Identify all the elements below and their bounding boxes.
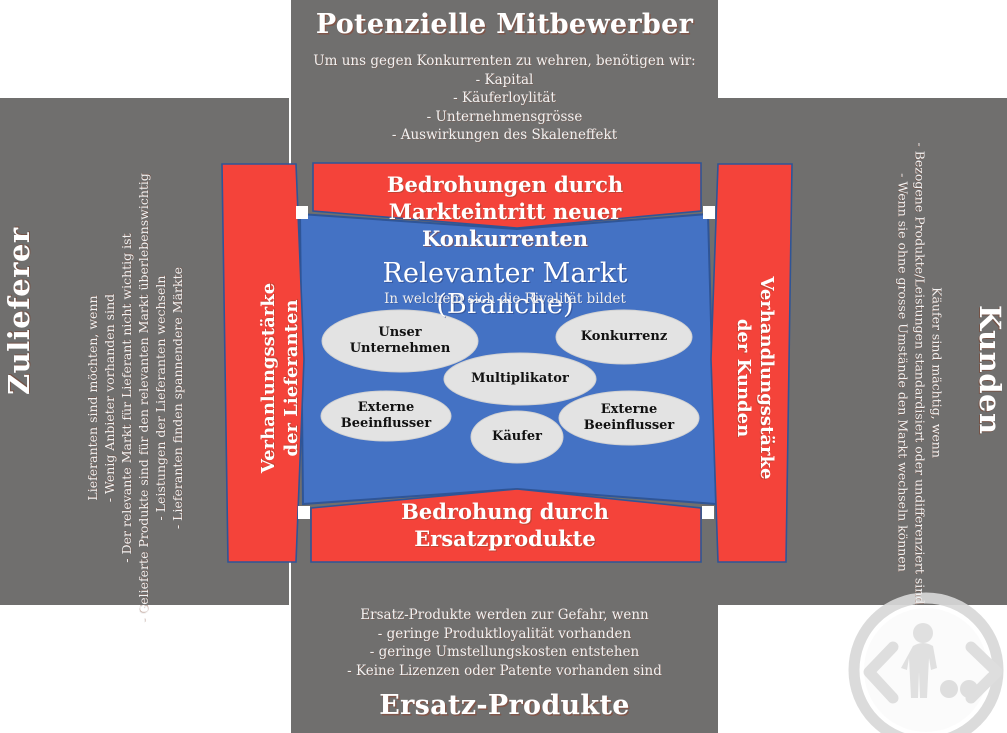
banner-substitutes-label: Bedrohung durch Ersatzprodukte [310, 498, 700, 552]
list-customers: Käufer sind mächtig, wenn- Bezogene Prod… [895, 143, 946, 603]
ellipse-label-unser-unternehmen-line1: Unser [322, 325, 478, 341]
heading-potential-entrants: Potenzielle Mitbewerber [291, 9, 718, 40]
heading-substitutes: Ersatz-Produkte [291, 690, 718, 721]
banner-buyer-power-label: Verhandlungsstärke der Kunden [732, 253, 778, 503]
banner-supplier-power-label: Verhanlungsstärke der Lieferanten [257, 253, 303, 503]
suppliers-item-line-1: - Wenig Anbieter vorhanden sind [101, 168, 118, 628]
diagram-canvas: Potenzielle Mitbewerber Um uns gegen Kon… [0, 0, 1007, 733]
ellipse-label-externe-links: ExterneBeeinflusser [321, 400, 451, 432]
ellipse-label-konkurrenz: Konkurrenz [556, 329, 692, 345]
ellipse-label-externe-links-line1: Externe [321, 400, 451, 416]
buyer-power-line2: der Kunden [732, 253, 755, 503]
suppliers-item-line-2: - Der relevante Markt für Lieferant nich… [118, 168, 135, 628]
entrants-item-line-1: - Kapital [291, 71, 718, 90]
ellipse-label-unser-unternehmen: UnserUnternehmen [322, 325, 478, 357]
entrants-item-line-4: - Auswirkungen des Skaleneffekt [291, 126, 718, 145]
banner-new-entrants-label: Bedrohungen durch Markteintritt neuer Ko… [310, 171, 700, 252]
ellipse-label-multiplikator-line1: Multiplikator [444, 371, 596, 387]
suppliers-item-line-0: Lieferanten sind möchten, wenn [84, 168, 101, 628]
connector-bottom-right [702, 506, 714, 519]
connector-top-right [703, 206, 715, 219]
label-customers: Kunden [973, 305, 1007, 395]
substitutes-item-line-1: - geringe Produktloyalität vorhanden [291, 625, 718, 644]
customers-item-line-2: - Wenn sie ohne grosse Umstände den Mark… [895, 143, 912, 603]
buyer-power-line1: Verhandlungsstärke [755, 253, 778, 503]
ellipse-label-konkurrenz-line1: Konkurrenz [556, 329, 692, 345]
ellipse-label-kaeufer: Käufer [471, 429, 563, 445]
connector-top-left [296, 206, 308, 219]
substitutes-item-line-2: - geringe Umstellungskosten entstehen [291, 643, 718, 662]
connector-bottom-left [298, 506, 310, 519]
substitutes-item-line-0: Ersatz-Produkte werden zur Gefahr, wenn [291, 606, 718, 625]
list-substitutes: Ersatz-Produkte werden zur Gefahr, wenn-… [291, 606, 718, 680]
ellipse-label-externe-rechts: ExterneBeeinflusser [559, 402, 699, 434]
ellipse-label-kaeufer-line1: Käufer [471, 429, 563, 445]
ellipse-label-multiplikator: Multiplikator [444, 371, 596, 387]
list-potential-entrants: Um uns gegen Konkurrenten zu wehren, ben… [291, 52, 718, 145]
suppliers-item-line-5: - Lieferanten finden spannendere Märkte [169, 168, 186, 628]
label-suppliers: Zulieferer [2, 305, 36, 395]
substitutes-item-line-3: - Keine Lizenzen oder Patente vorhanden … [291, 662, 718, 681]
supplier-power-line2: der Lieferanten [280, 253, 303, 503]
entrants-item-line-2: - Käuferloylität [291, 89, 718, 108]
suppliers-item-line-3: - Gelieferte Produkte sind für den relev… [135, 168, 152, 628]
ellipse-label-externe-links-line2: Beeinflusser [321, 416, 451, 432]
market-subtitle: In welchem sich die Rivalität bildet [310, 291, 700, 307]
list-suppliers: Lieferanten sind möchten, wenn- Wenig An… [84, 168, 186, 628]
entrants-item-line-0: Um uns gegen Konkurrenten zu wehren, ben… [291, 52, 718, 71]
ellipse-label-externe-rechts-line1: Externe [559, 402, 699, 418]
market-title: Relevanter Markt (Branche) [310, 258, 700, 320]
ellipse-label-unser-unternehmen-line2: Unternehmen [322, 341, 478, 357]
supplier-power-line1: Verhanlungsstärke [257, 253, 280, 503]
entrants-item-line-3: - Unternehmensgrösse [291, 108, 718, 127]
suppliers-item-line-4: - Leistungen der Lieferanten wechseln [152, 168, 169, 628]
customers-item-line-1: - Bezogene Produkte/Leistungen standardi… [912, 143, 929, 603]
ellipse-label-externe-rechts-line2: Beeinflusser [559, 418, 699, 434]
customers-item-line-0: Käufer sind mächtig, wenn [929, 143, 946, 603]
